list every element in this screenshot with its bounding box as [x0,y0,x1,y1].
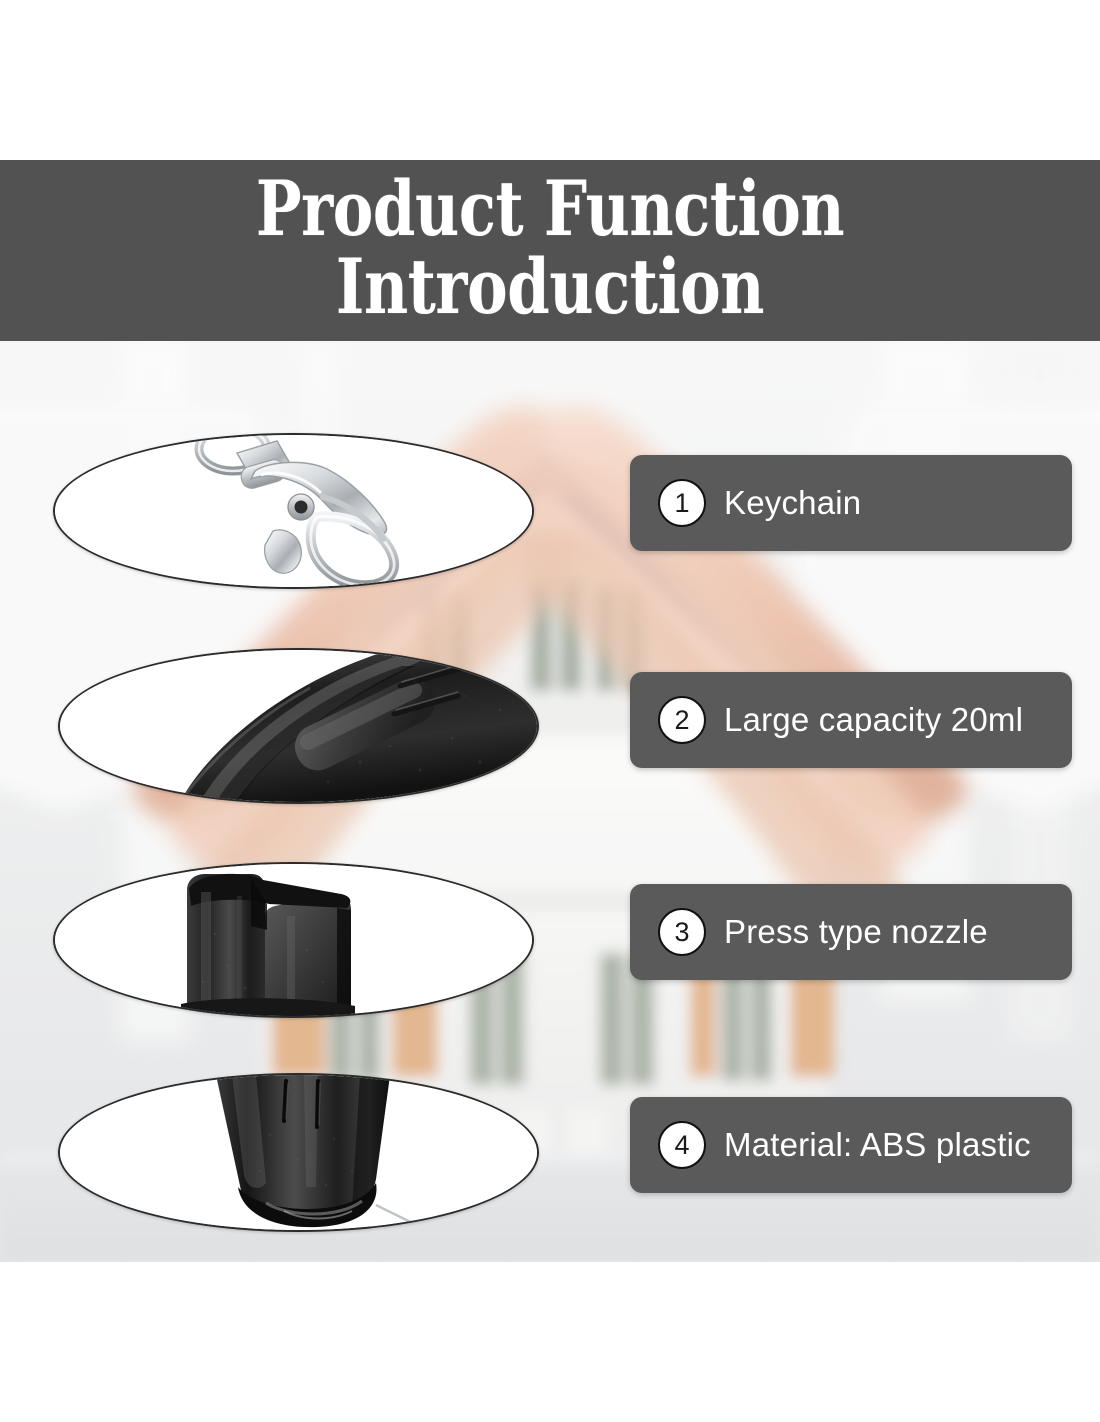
keychain-clasp-icon [55,435,532,587]
press-nozzle-icon [55,864,532,1016]
feature-thumbnail-capacity [58,648,539,804]
number-badge-3: 3 [658,908,706,956]
infographic-page: Product Function Introduction [0,0,1100,1422]
feature-label-text-1: Keychain [724,484,861,522]
feature-label-1[interactable]: 1 Keychain [630,455,1072,551]
feature-label-text-4: Material: ABS plastic [724,1126,1031,1164]
number-badge-2: 2 [658,696,706,744]
number-badge-1: 1 [658,479,706,527]
header-band: Product Function Introduction [0,160,1100,341]
feature-label-text-2: Large capacity 20ml [724,701,1023,739]
feature-thumbnail-nozzle [53,862,534,1018]
number-badge-4: 4 [658,1121,706,1169]
feature-label-4[interactable]: 4 Material: ABS plastic [630,1097,1072,1193]
feature-label-3[interactable]: 3 Press type nozzle [630,884,1072,980]
bottle-body-icon [60,650,537,802]
page-title: Product Function Introduction [110,170,990,326]
feature-label-2[interactable]: 2 Large capacity 20ml [630,672,1072,768]
feature-thumbnail-material [58,1073,539,1232]
feature-thumbnail-keychain [53,433,534,589]
abs-cap-icon [60,1075,537,1230]
feature-label-text-3: Press type nozzle [724,913,988,951]
